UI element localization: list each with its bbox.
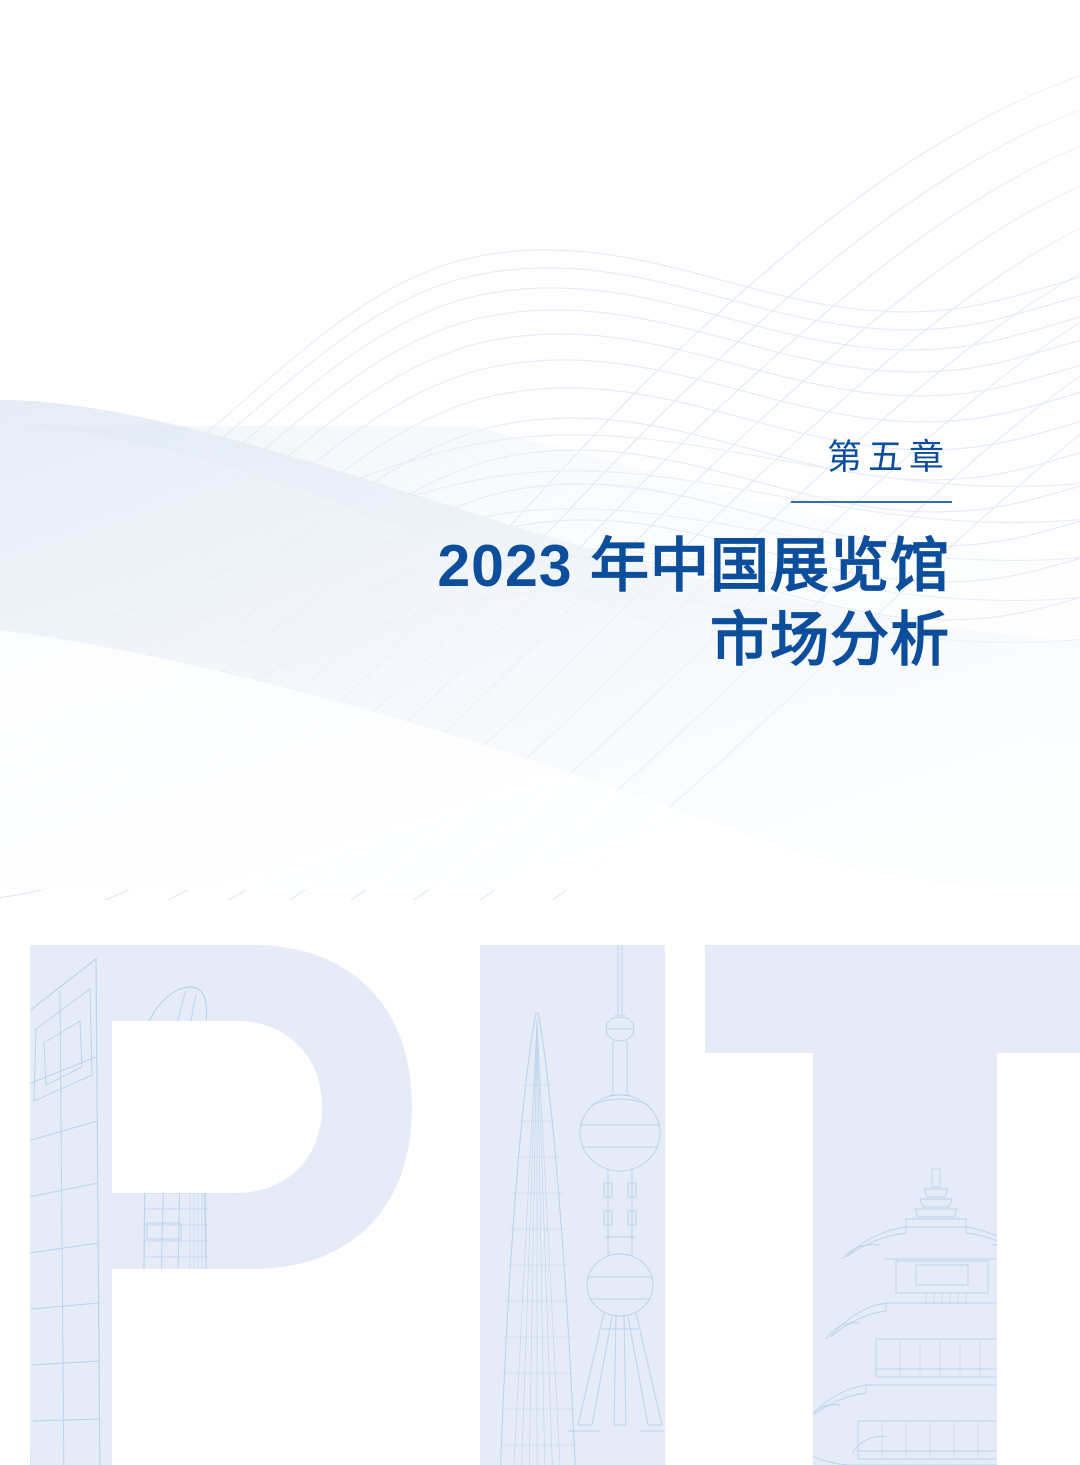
page-title-line-2: 市场分析 bbox=[252, 603, 950, 677]
letter-t-landmarks bbox=[784, 1169, 1080, 1465]
yellow-crane-tower-lineart bbox=[784, 1169, 1080, 1465]
letter-p-fill bbox=[30, 945, 412, 1465]
letter-i-landmarks bbox=[500, 939, 672, 1465]
page-title: 2023 年中国展览馆 市场分析 bbox=[252, 529, 952, 678]
chapter-divider-rule bbox=[791, 501, 952, 503]
oriental-pearl-tower-lineart bbox=[568, 939, 672, 1431]
ping-an-finance-center-lineart bbox=[500, 1013, 576, 1465]
shanghai-tower-lineart bbox=[142, 987, 210, 1465]
chapter-headline: 第五章 2023 年中国展览馆 市场分析 bbox=[252, 440, 952, 678]
pit-letterform-art bbox=[0, 925, 1080, 1465]
pit-letterform-text: PIT bbox=[0, 0, 1, 1]
shanghai-world-financial-center-lineart bbox=[24, 959, 100, 1465]
letter-i-fill bbox=[480, 945, 665, 1465]
chapter-label: 第五章 bbox=[252, 440, 952, 475]
page-title-line-1: 2023 年中国展览馆 bbox=[252, 529, 950, 603]
letter-t-fill bbox=[705, 945, 1080, 1465]
letter-p-landmarks bbox=[24, 959, 210, 1465]
chapter-cover-page: 第五章 2023 年中国展览馆 市场分析 bbox=[0, 0, 1080, 1465]
